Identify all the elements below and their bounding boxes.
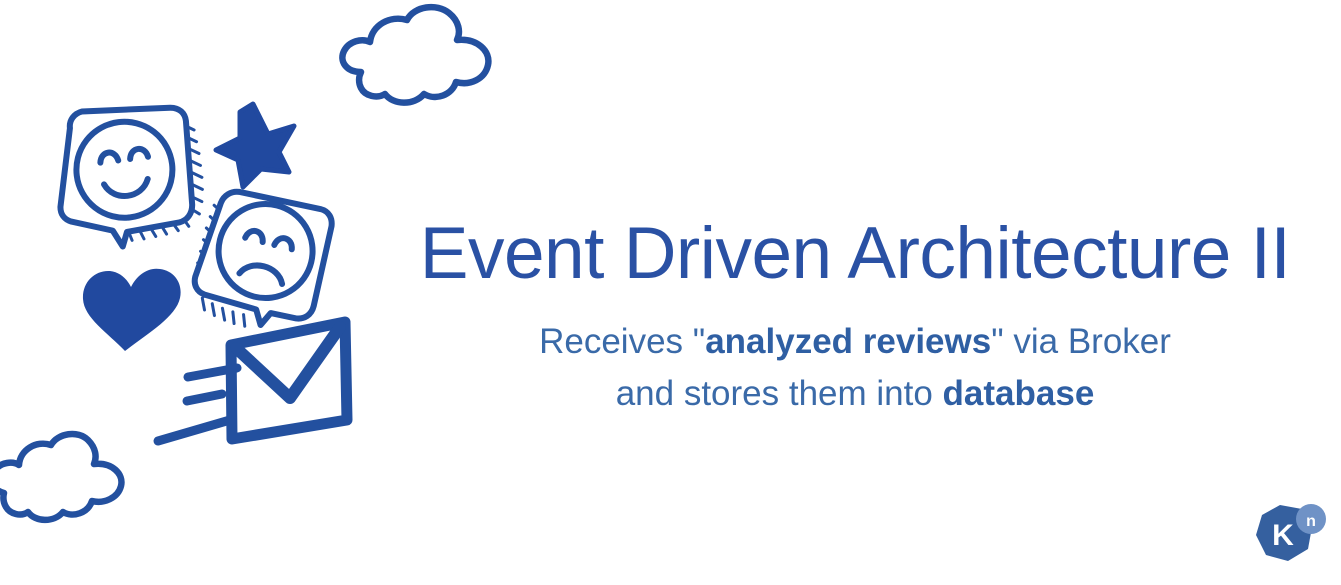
subtitle-line-2-bold: database [943, 374, 1095, 413]
subtitle-line-1-bold: analyzed reviews [705, 322, 991, 361]
logo-letter-k: K [1272, 519, 1294, 552]
logo-letter-n: n [1306, 513, 1316, 530]
subtitle-line-1-pre: Receives " [539, 322, 705, 361]
motion-lines-icon [158, 368, 237, 441]
subtitle-line-2: and stores them into database [380, 368, 1330, 420]
brand-logo: K n [1254, 503, 1330, 569]
page-title: Event Driven Architecture II [380, 215, 1330, 294]
subtitle-line-1-post: " via Broker [991, 322, 1171, 361]
subtitle-line-2-pre: and stores them into [616, 374, 943, 413]
speech-bubble-happy-icon [49, 98, 209, 254]
slide-canvas: Event Driven Architecture II Receives "a… [0, 0, 1341, 585]
cloud-top-icon [342, 7, 488, 103]
cloud-bottom-left-icon [0, 434, 121, 520]
page-subtitle: Receives "analyzed reviews" via Broker a… [380, 316, 1330, 420]
speech-bubble-sad-icon [186, 183, 337, 341]
envelope-icon [231, 322, 347, 439]
subtitle-line-1: Receives "analyzed reviews" via Broker [380, 316, 1330, 368]
text-block: Event Driven Architecture II Receives "a… [380, 215, 1330, 419]
heart-icon [83, 269, 181, 351]
star-icon [216, 104, 294, 187]
